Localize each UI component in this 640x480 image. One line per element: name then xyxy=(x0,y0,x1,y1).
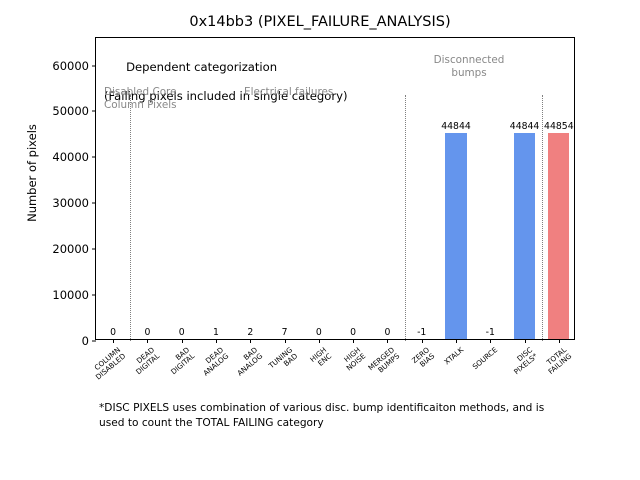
y-tick-label: 50000 xyxy=(52,104,96,118)
x-tick-label-line: XTALK xyxy=(443,346,465,366)
x-tick-label: BADDIGITAL xyxy=(164,346,196,376)
x-tick-label: DEADDIGITAL xyxy=(130,346,162,376)
figure-canvas: 0x14bb3 (PIXEL_FAILURE_ANALYSIS) Number … xyxy=(0,0,640,480)
x-tick-label: COLUMNDISABLED xyxy=(89,346,127,382)
x-tick-mark xyxy=(490,339,491,343)
x-tick-label: HIGHENC xyxy=(309,346,334,370)
x-tick-mark xyxy=(147,339,148,343)
annotation-disconnected-bumps: Disconnected bumps xyxy=(409,54,529,80)
y-tick-mark xyxy=(92,249,96,250)
y-tick-label: 10000 xyxy=(52,288,96,302)
category-separator-line xyxy=(405,95,406,341)
y-tick-mark xyxy=(92,157,96,158)
bar-value-label: 2 xyxy=(247,327,253,338)
y-tick-label: 60000 xyxy=(52,59,96,73)
x-tick-label: MERGEDBUMPS xyxy=(367,346,401,379)
x-tick-mark xyxy=(113,339,114,343)
x-tick-mark xyxy=(319,339,320,343)
x-tick-label: ZEROBIAS xyxy=(410,346,436,371)
footnote-text: *DISC PIXELS uses combination of various… xyxy=(99,401,619,430)
bar-value-label: -1 xyxy=(417,327,426,338)
annotation-electrical-failures: Electrical failures xyxy=(244,86,333,99)
x-tick-label: TUNINGBAD xyxy=(267,346,299,376)
x-tick-label: DISCPIXELS* xyxy=(507,346,539,376)
x-tick-mark xyxy=(456,339,457,343)
y-axis-label: Number of pixels xyxy=(25,63,39,283)
x-tick-mark xyxy=(525,339,526,343)
x-tick-mark xyxy=(353,339,354,343)
x-tick-mark xyxy=(250,339,251,343)
bar xyxy=(548,133,569,339)
bar-value-label: 0 xyxy=(384,327,390,338)
x-tick-label-line: SOURCE xyxy=(472,346,500,371)
bar-value-label: 0 xyxy=(110,327,116,338)
annotation-dependent-line1: Dependent categorization xyxy=(126,60,277,74)
bar-value-label: 0 xyxy=(350,327,356,338)
x-tick-mark xyxy=(387,339,388,343)
x-tick-label: BADANALOG xyxy=(231,346,264,378)
bar-value-label: -1 xyxy=(486,327,495,338)
y-tick-mark xyxy=(92,341,96,342)
bar-value-label: 0 xyxy=(179,327,185,338)
bar xyxy=(445,133,466,339)
bar-value-label: 7 xyxy=(282,327,288,338)
bar-value-label: 0 xyxy=(144,327,150,338)
x-tick-label: TOTALFAILING xyxy=(542,346,574,376)
x-tick-mark xyxy=(559,339,560,343)
annotation-disabled-core-column-pixels: Disabled Core Column Pixels xyxy=(104,86,177,112)
bar-value-label: 0 xyxy=(316,327,322,338)
bar-value-label: 44854 xyxy=(544,121,574,132)
x-tick-mark xyxy=(422,339,423,343)
bar xyxy=(514,133,535,339)
y-tick-label: 40000 xyxy=(52,150,96,164)
y-tick-mark xyxy=(92,295,96,296)
bar-value-label: 44844 xyxy=(510,121,540,132)
y-tick-label: 30000 xyxy=(52,196,96,210)
x-tick-label: XTALK xyxy=(443,346,465,366)
x-tick-mark xyxy=(182,339,183,343)
x-tick-label: DEADANALOG xyxy=(197,346,230,378)
plot-area: Number of pixels 01000020000300004000050… xyxy=(95,37,575,340)
x-tick-label: HIGHNOISE xyxy=(340,346,367,373)
bar-value-label: 44844 xyxy=(441,121,471,132)
x-tick-mark xyxy=(285,339,286,343)
category-separator-line xyxy=(542,95,543,341)
x-tick-label: SOURCE xyxy=(472,346,500,371)
page-title: 0x14bb3 (PIXEL_FAILURE_ANALYSIS) xyxy=(0,14,640,30)
y-tick-label: 20000 xyxy=(52,242,96,256)
x-tick-mark xyxy=(216,339,217,343)
y-tick-mark xyxy=(92,65,96,66)
y-tick-mark xyxy=(92,111,96,112)
y-tick-mark xyxy=(92,203,96,204)
bar-value-label: 1 xyxy=(213,327,219,338)
